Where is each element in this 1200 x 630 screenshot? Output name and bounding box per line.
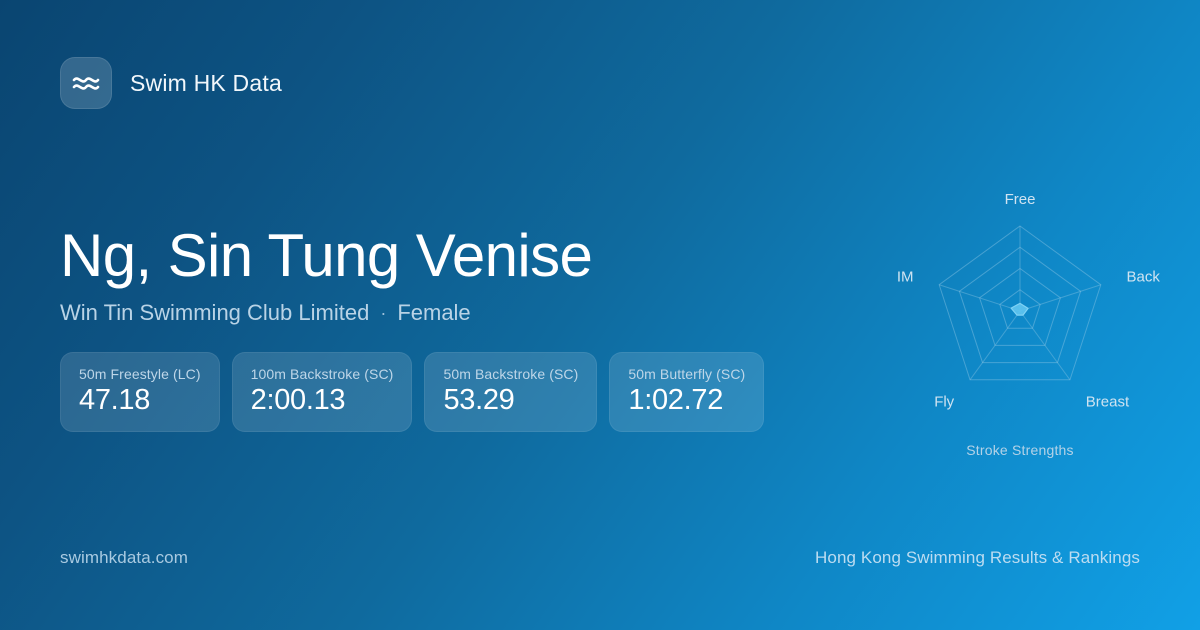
brand-header[interactable]: Swim HK Data [60,57,282,109]
brand-name: Swim HK Data [130,70,282,97]
radar-axis-label: Breast [1086,394,1130,411]
radar-axis-label: Back [1127,268,1161,285]
stat-card-label: 50m Freestyle (LC) [79,366,201,382]
radar-axis-label: Free [1005,191,1036,208]
stroke-strengths-radar-chart: FreeBackBreastFlyIM Stroke Strengths [880,170,1160,470]
meta-separator: · [380,303,386,324]
footer-tagline: Hong Kong Swimming Results & Rankings [815,548,1140,568]
stat-card-list: 50m Freestyle (LC) 47.18 100m Backstroke… [60,352,764,432]
stat-card-label: 50m Butterfly (SC) [628,366,745,382]
brand-logo-tile [60,57,112,109]
stat-card-value: 1:02.72 [628,385,745,417]
athlete-meta: Win Tin Swimming Club Limited · Female [60,300,592,326]
footer-site-url[interactable]: swimhkdata.com [60,548,188,568]
wave-icon [71,72,101,94]
athlete-block: Ng, Sin Tung Venise Win Tin Swimming Clu… [60,222,592,326]
radar-svg: FreeBackBreastFlyIM [880,170,1160,430]
stat-card-label: 50m Backstroke (SC) [443,366,578,382]
radar-axis-label: IM [897,268,914,285]
stat-card-value: 2:00.13 [251,385,394,417]
radar-axis-labels: FreeBackBreastFlyIM [897,191,1161,411]
athlete-club: Win Tin Swimming Club Limited [60,300,369,326]
poster-canvas: Swim HK Data Ng, Sin Tung Venise Win Tin… [0,0,1200,630]
stat-card-label: 100m Backstroke (SC) [251,366,394,382]
stat-card-value: 53.29 [443,385,578,417]
radar-data-area [1011,303,1028,315]
stat-card[interactable]: 50m Freestyle (LC) 47.18 [60,352,220,432]
radar-axis-label: Fly [934,394,954,411]
stat-card[interactable]: 50m Backstroke (SC) 53.29 [424,352,597,432]
stat-card-value: 47.18 [79,385,201,417]
page-title: Ng, Sin Tung Venise [60,222,592,289]
radar-caption: Stroke Strengths [880,442,1160,458]
stat-card[interactable]: 100m Backstroke (SC) 2:00.13 [232,352,413,432]
athlete-gender: Female [397,300,470,326]
stat-card[interactable]: 50m Butterfly (SC) 1:02.72 [609,352,764,432]
